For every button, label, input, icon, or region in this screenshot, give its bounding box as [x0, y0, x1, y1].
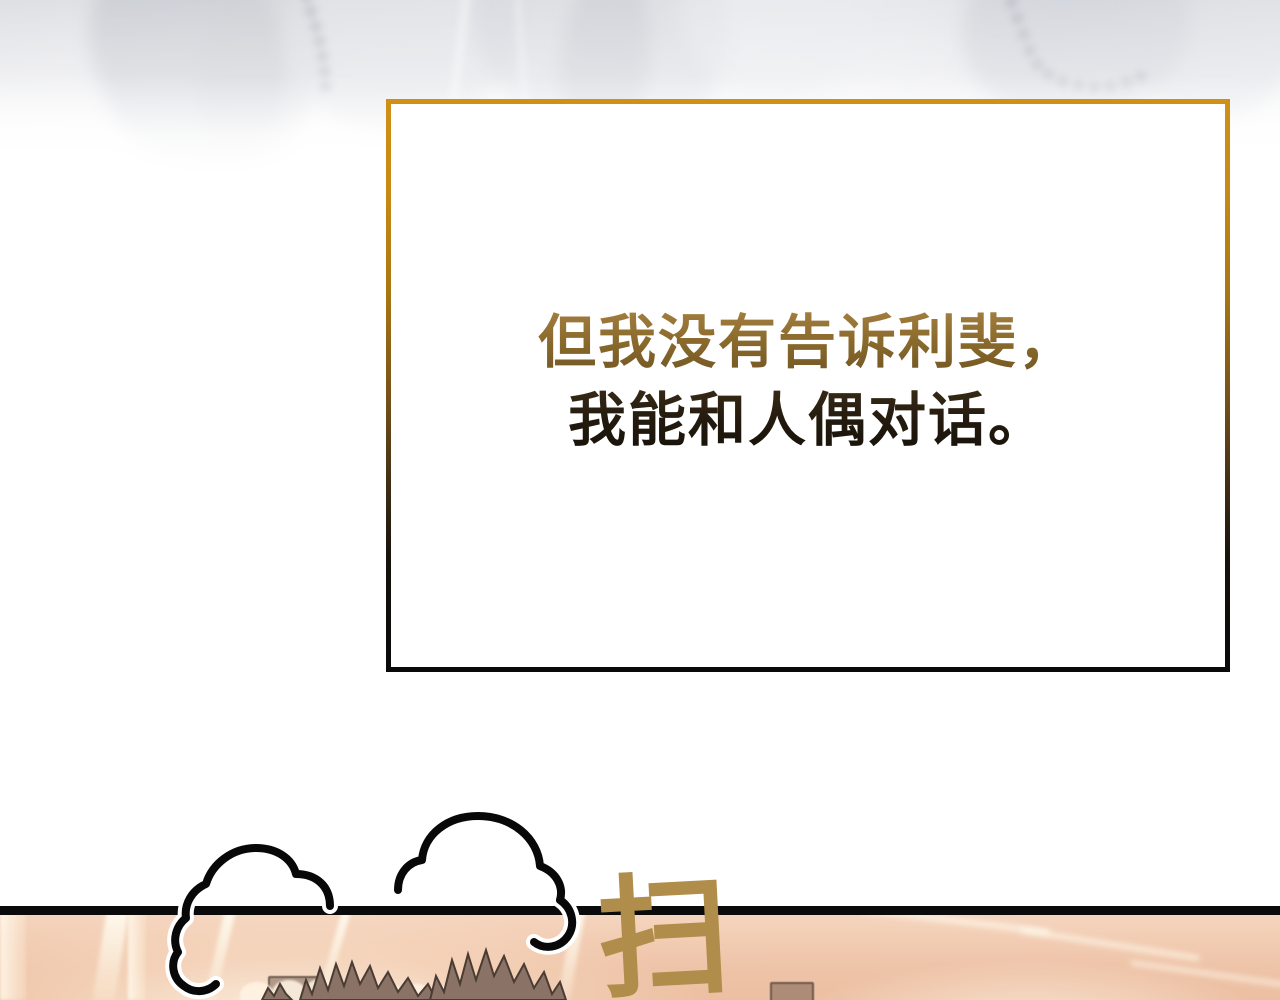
- dialogue-panel: 但我没有告诉利斐， 我能和人偶对话。: [386, 99, 1230, 672]
- watermark-glyph: 扫: [595, 869, 734, 1000]
- comic-page: 但我没有告诉利斐， 我能和人偶对话。: [0, 0, 1280, 1000]
- foliage-clump-left: [300, 962, 436, 1000]
- dialogue-line-1: 但我没有告诉利斐，: [391, 304, 1225, 382]
- foliage-clump-right: [430, 950, 566, 1000]
- dialogue-line-2: 我能和人偶对话。: [391, 382, 1225, 460]
- foliage-sprig-far-left: [262, 984, 292, 1000]
- panel-dialogue-text: 但我没有告诉利斐， 我能和人偶对话。: [391, 304, 1225, 460]
- panel-interior: 但我没有告诉利斐， 我能和人偶对话。: [391, 104, 1225, 667]
